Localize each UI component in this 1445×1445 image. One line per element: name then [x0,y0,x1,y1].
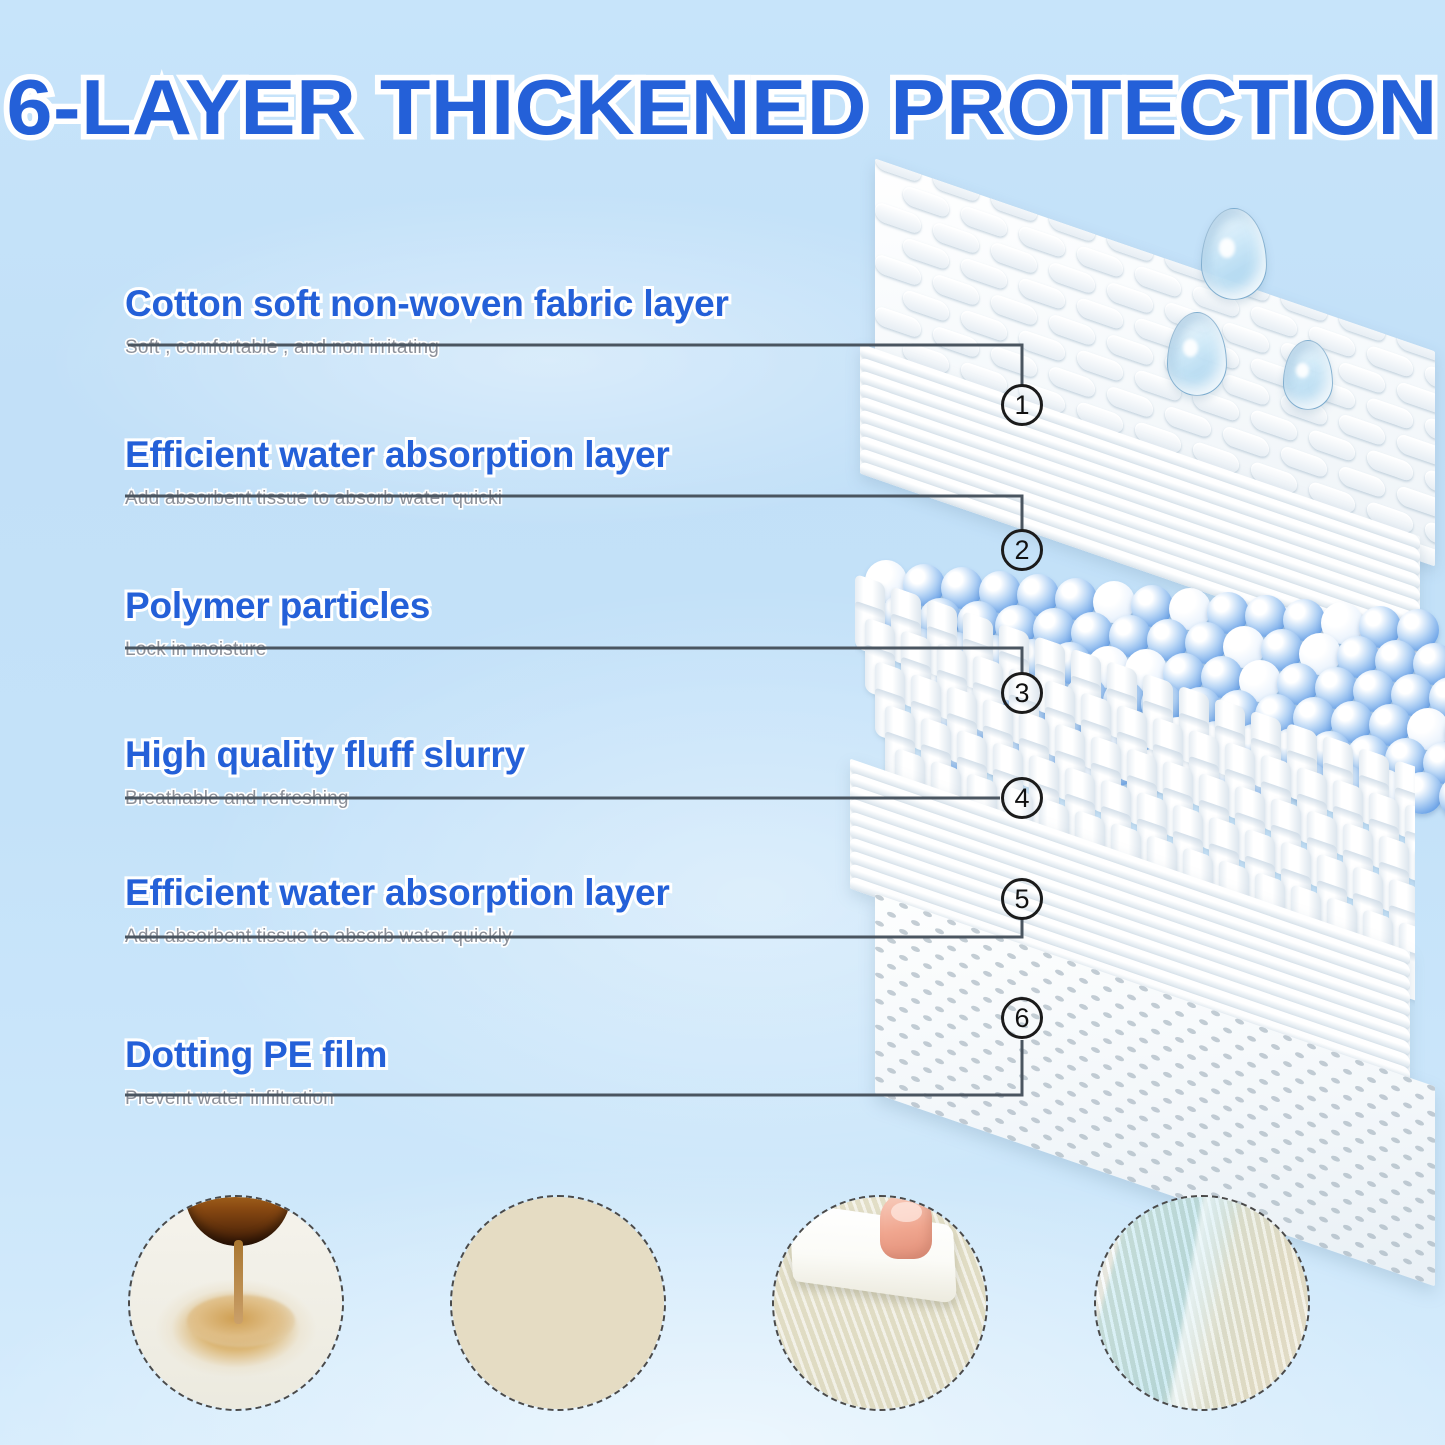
callout-number-4: 4 [1001,777,1043,819]
fabric-fold-highlight [1166,1197,1241,1409]
photo-liquid-absorption-test [128,1195,344,1411]
layer-row-2: Efficient water absorption layer Add abs… [125,434,670,510]
callout-number-text: 4 [1014,785,1029,812]
callout-number-6: 6 [1001,997,1043,1039]
callout-number-text: 6 [1014,1005,1029,1032]
layer-description: Soft , comfortable , and non irritating [125,337,729,359]
callout-number-text: 3 [1014,680,1029,707]
callout-number-3: 3 [1001,672,1043,714]
photo-blue-cream-fabric-layers [1094,1195,1310,1411]
callout-number-text: 1 [1014,392,1029,419]
callout-number-text: 5 [1014,886,1029,913]
callout-number-1: 1 [1001,384,1043,426]
layer-description: Prevent water infiltration [125,1088,387,1110]
layer-label: Cotton soft non-woven fabric layer [125,283,729,325]
layer-row-5: Efficient water absorption layer Add abs… [125,872,670,948]
layer-description: Lock in moisture [125,639,430,661]
layer-label: Dotting PE film [125,1034,387,1076]
layer-label: Polymer particles [125,585,430,627]
layer-label: Efficient water absorption layer [125,872,670,914]
photo-pad-thickness-finger-lift [772,1195,988,1411]
layer-description: Breathable and refreshing [125,788,525,810]
layer-row-4: High quality fluff slurry Breathable and… [125,734,525,810]
layer-row-3: Polymer particles Lock in moisture [125,585,430,661]
layer-label: High quality fluff slurry [125,734,525,776]
product-photo-row [0,1185,1445,1435]
finger [880,1197,932,1259]
callout-number-text: 2 [1014,537,1029,564]
layer-description: Add absorbent tissue to absorb water qui… [125,488,670,510]
spoon-pouring-liquid [185,1197,291,1246]
layer-row-6: Dotting PE film Prevent water infiltrati… [125,1034,387,1110]
layer-description: Add absorbent tissue to absorb water qui… [125,926,670,948]
layer-row-1: Cotton soft non-woven fabric layer Soft … [125,283,729,359]
callout-number-2: 2 [1001,529,1043,571]
photo-fiber-texture-closeup [450,1195,666,1411]
layer-label: Efficient water absorption layer [125,434,670,476]
callout-number-5: 5 [1001,878,1043,920]
